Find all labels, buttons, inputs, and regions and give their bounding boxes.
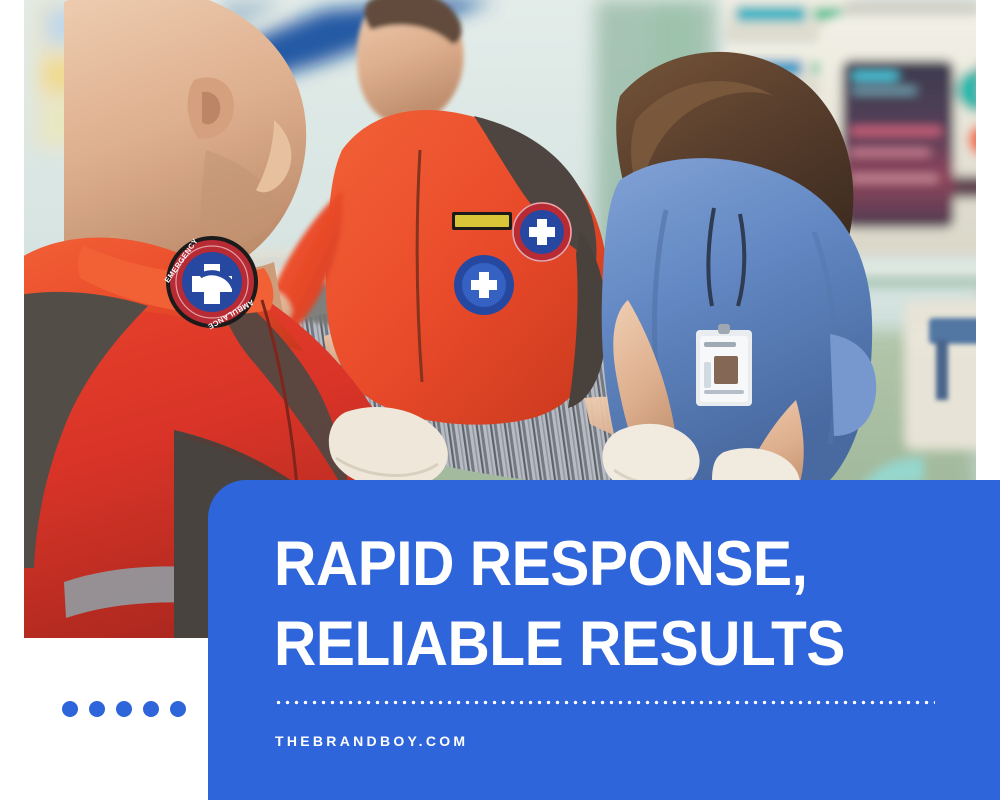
dot-4	[143, 701, 159, 717]
dot-3	[116, 701, 132, 717]
headline-line-2: RELIABLE RESULTS	[274, 604, 925, 684]
website-url[interactable]: THEBRANDBOY.COM	[275, 733, 468, 749]
dot-2	[89, 701, 105, 717]
dotted-divider	[274, 700, 935, 705]
headline-line-1: RAPID RESPONSE,	[274, 524, 925, 604]
dot-5	[170, 701, 186, 717]
dot-1	[62, 701, 78, 717]
page-title: RAPID RESPONSE, RELIABLE RESULTS	[274, 524, 925, 684]
poster-canvas: EMERGENCY AMBULANCE RAPID RESPONSE, RELI	[0, 0, 1000, 800]
dot-decoration	[62, 701, 186, 717]
